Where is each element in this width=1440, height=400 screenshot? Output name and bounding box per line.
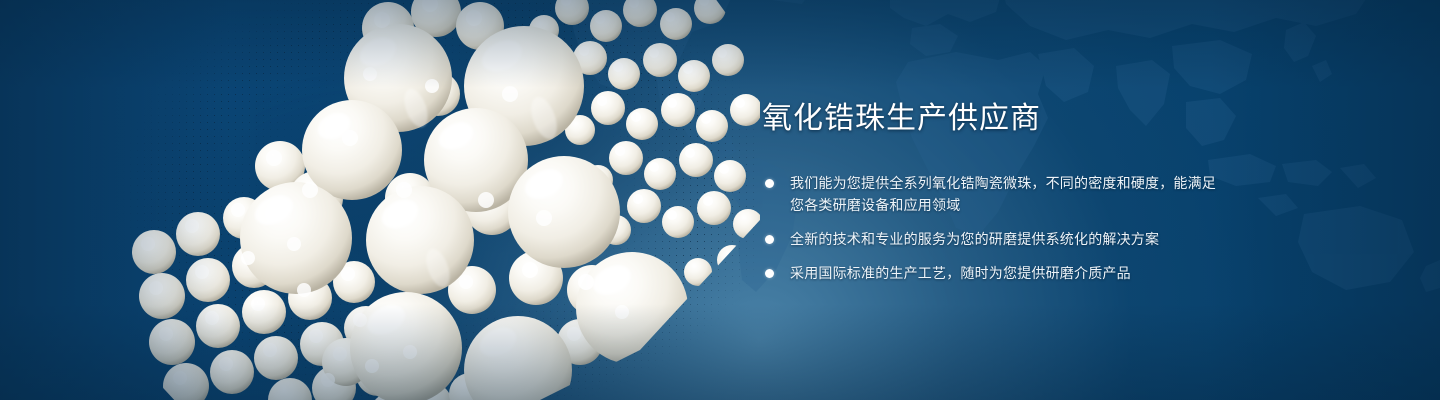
list-item: 采用国际标准的生产工艺，随时为您提供研磨介质产品	[762, 262, 1222, 284]
bullet-text: 采用国际标准的生产工艺，随时为您提供研磨介质产品	[790, 262, 1222, 284]
banner-headline: 氧化锆珠生产供应商	[762, 104, 1222, 134]
banner-copy: 氧化锆珠生产供应商 我们能为您提供全系列氧化锆陶瓷微珠，不同的密度和硬度，能满足…	[762, 104, 1222, 284]
banner-background	[0, 0, 1440, 400]
bullet-text: 我们能为您提供全系列氧化锆陶瓷微珠，不同的密度和硬度，能满足您各类研磨设备和应用…	[790, 172, 1222, 216]
bullet-dot-icon	[765, 179, 774, 188]
bullet-text: 全新的技术和专业的服务为您的研磨提供系统化的解决方案	[790, 228, 1222, 250]
hero-banner: 氧化锆珠生产供应商 我们能为您提供全系列氧化锆陶瓷微珠，不同的密度和硬度，能满足…	[0, 0, 1440, 400]
list-item: 全新的技术和专业的服务为您的研磨提供系统化的解决方案	[762, 228, 1222, 250]
list-item: 我们能为您提供全系列氧化锆陶瓷微珠，不同的密度和硬度，能满足您各类研磨设备和应用…	[762, 172, 1222, 216]
banner-bullet-list: 我们能为您提供全系列氧化锆陶瓷微珠，不同的密度和硬度，能满足您各类研磨设备和应用…	[762, 172, 1222, 284]
bullet-dot-icon	[765, 235, 774, 244]
bullet-dot-icon	[765, 269, 774, 278]
